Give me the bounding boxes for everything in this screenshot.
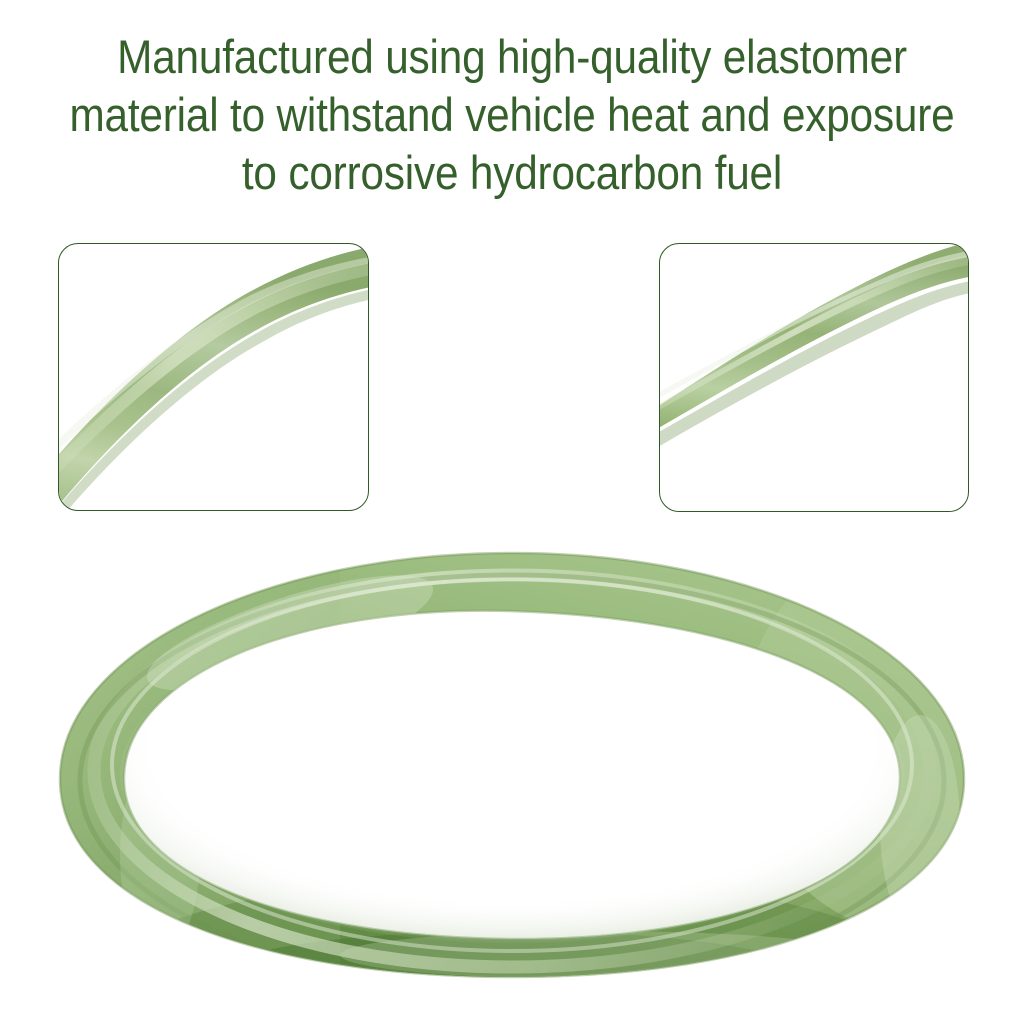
gasket-closeup-left-illustration xyxy=(59,244,368,510)
gasket-ring-illustration xyxy=(40,525,984,995)
inset-panel-right xyxy=(659,243,969,512)
headline-line-1: Manufactured using high-quality elastome… xyxy=(51,28,973,86)
headline-line-3: to corrosive hydrocarbon fuel xyxy=(51,144,973,202)
ring-inner-shadow xyxy=(120,607,904,943)
gasket-closeup-right-illustration xyxy=(660,244,968,511)
headline-line-2: material to withstand vehicle heat and e… xyxy=(51,86,973,144)
product-image-gasket-ring xyxy=(40,525,984,995)
page-title: Manufactured using high-quality elastome… xyxy=(51,28,973,202)
product-feature-image: Manufactured using high-quality elastome… xyxy=(0,0,1024,1024)
inset-panel-left xyxy=(58,243,369,511)
